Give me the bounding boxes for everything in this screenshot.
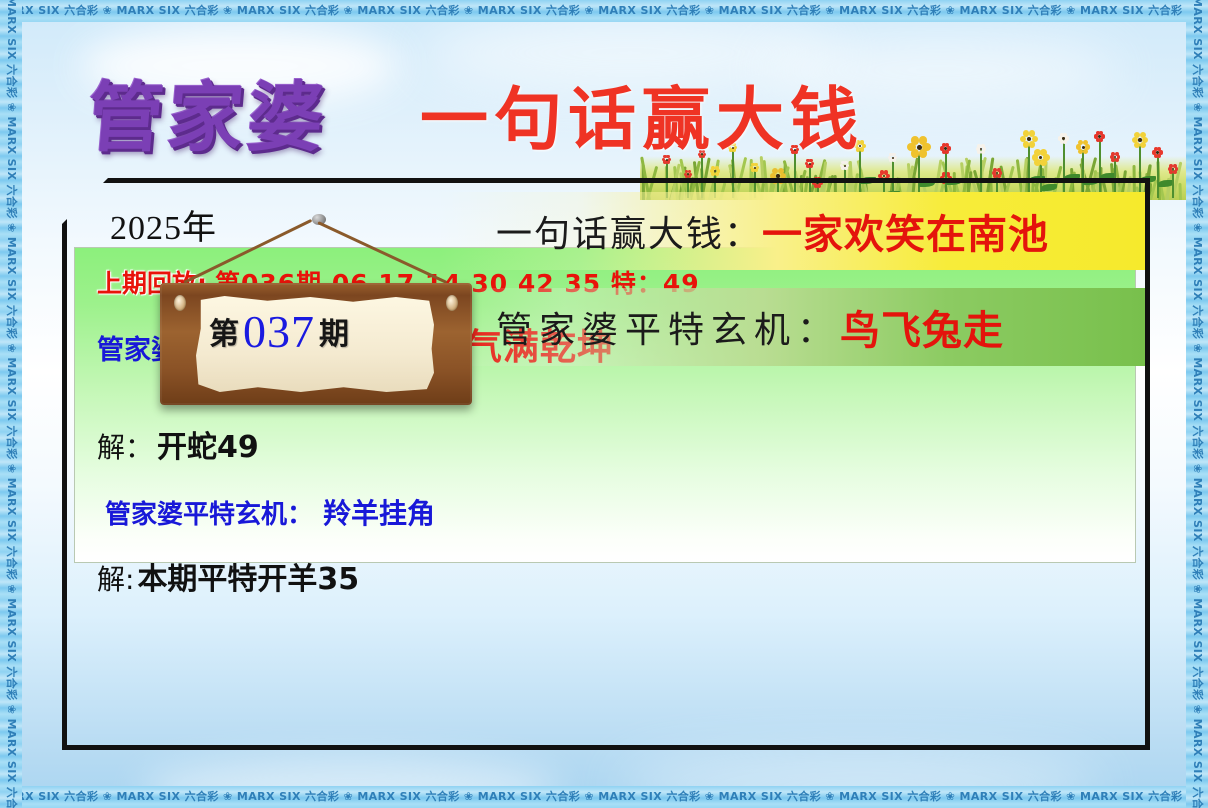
border-left: MARX SIX 六合彩 ❀ MARX SIX 六合彩 ❀ MARX SIX 六… [0,0,22,808]
riddle-solution-label: 解: [97,558,134,598]
phrase-solution-row: 解： 开蛇49 [97,422,1135,466]
riddle-value: 羚羊挂角 [323,492,435,532]
phrase-solution-value: 开蛇49 [157,422,259,466]
banner-phrase-label: 一句话赢大钱： [496,205,762,257]
riddle-solution-value: 本期平特开羊35 [137,554,359,598]
border-pattern-text: MARX SIX 六合彩 ❀ MARX SIX 六合彩 ❀ MARX SIX 六… [0,786,1208,808]
masthead-tagline: 一句话赢大钱 [420,64,864,163]
banner-riddle-label: 管家婆平特玄机： [496,301,840,353]
riddle-label: 管家婆平特玄机： [105,494,313,531]
riddle-row: 管家婆平特玄机： 羚羊挂角 [105,492,1135,532]
plaque-board: 第037期 [160,283,472,405]
banner-riddle-answer: 鸟飞兔走 [840,298,1004,356]
banner-riddle: 管家婆平特玄机：鸟飞兔走 [438,288,1145,366]
rope-left [183,219,312,284]
poster-page: 管家婆 一句话赢大钱 2025年 第037期 一句话赢大钱：一家欢笑在南池 管家… [0,0,1208,808]
issue-number-group: 第037期 [160,283,398,379]
border-pattern-text: MARX SIX 六合彩 ❀ MARX SIX 六合彩 ❀ MARX SIX 六… [0,0,22,808]
issue-number: 037 [243,305,315,358]
riddle-solution-row: 解: 本期平特开羊35 [97,554,1135,598]
border-pattern-text: MARX SIX 六合彩 ❀ MARX SIX 六合彩 ❀ MARX SIX 六… [1186,0,1208,808]
hanging-plaque: 第037期 [150,205,480,410]
border-top: MARX SIX 六合彩 ❀ MARX SIX 六合彩 ❀ MARX SIX 六… [0,0,1208,22]
phrase-solution-label: 解： [97,426,153,466]
border-pattern-text: MARX SIX 六合彩 ❀ MARX SIX 六合彩 ❀ MARX SIX 六… [0,0,1208,22]
issue-suffix: 期 [319,309,349,353]
brand-logo: 管家婆 [83,56,333,166]
masthead: 管家婆 一句话赢大钱 [0,22,1208,197]
issue-prefix: 第 [209,309,239,353]
border-right: MARX SIX 六合彩 ❀ MARX SIX 六合彩 ❀ MARX SIX 六… [1186,0,1208,808]
rope-right [317,221,447,284]
banner-phrase: 一句话赢大钱：一家欢笑在南池 [438,192,1145,270]
banner-phrase-answer: 一家欢笑在南池 [762,202,1049,260]
border-bottom: MARX SIX 六合彩 ❀ MARX SIX 六合彩 ❀ MARX SIX 六… [0,786,1208,808]
